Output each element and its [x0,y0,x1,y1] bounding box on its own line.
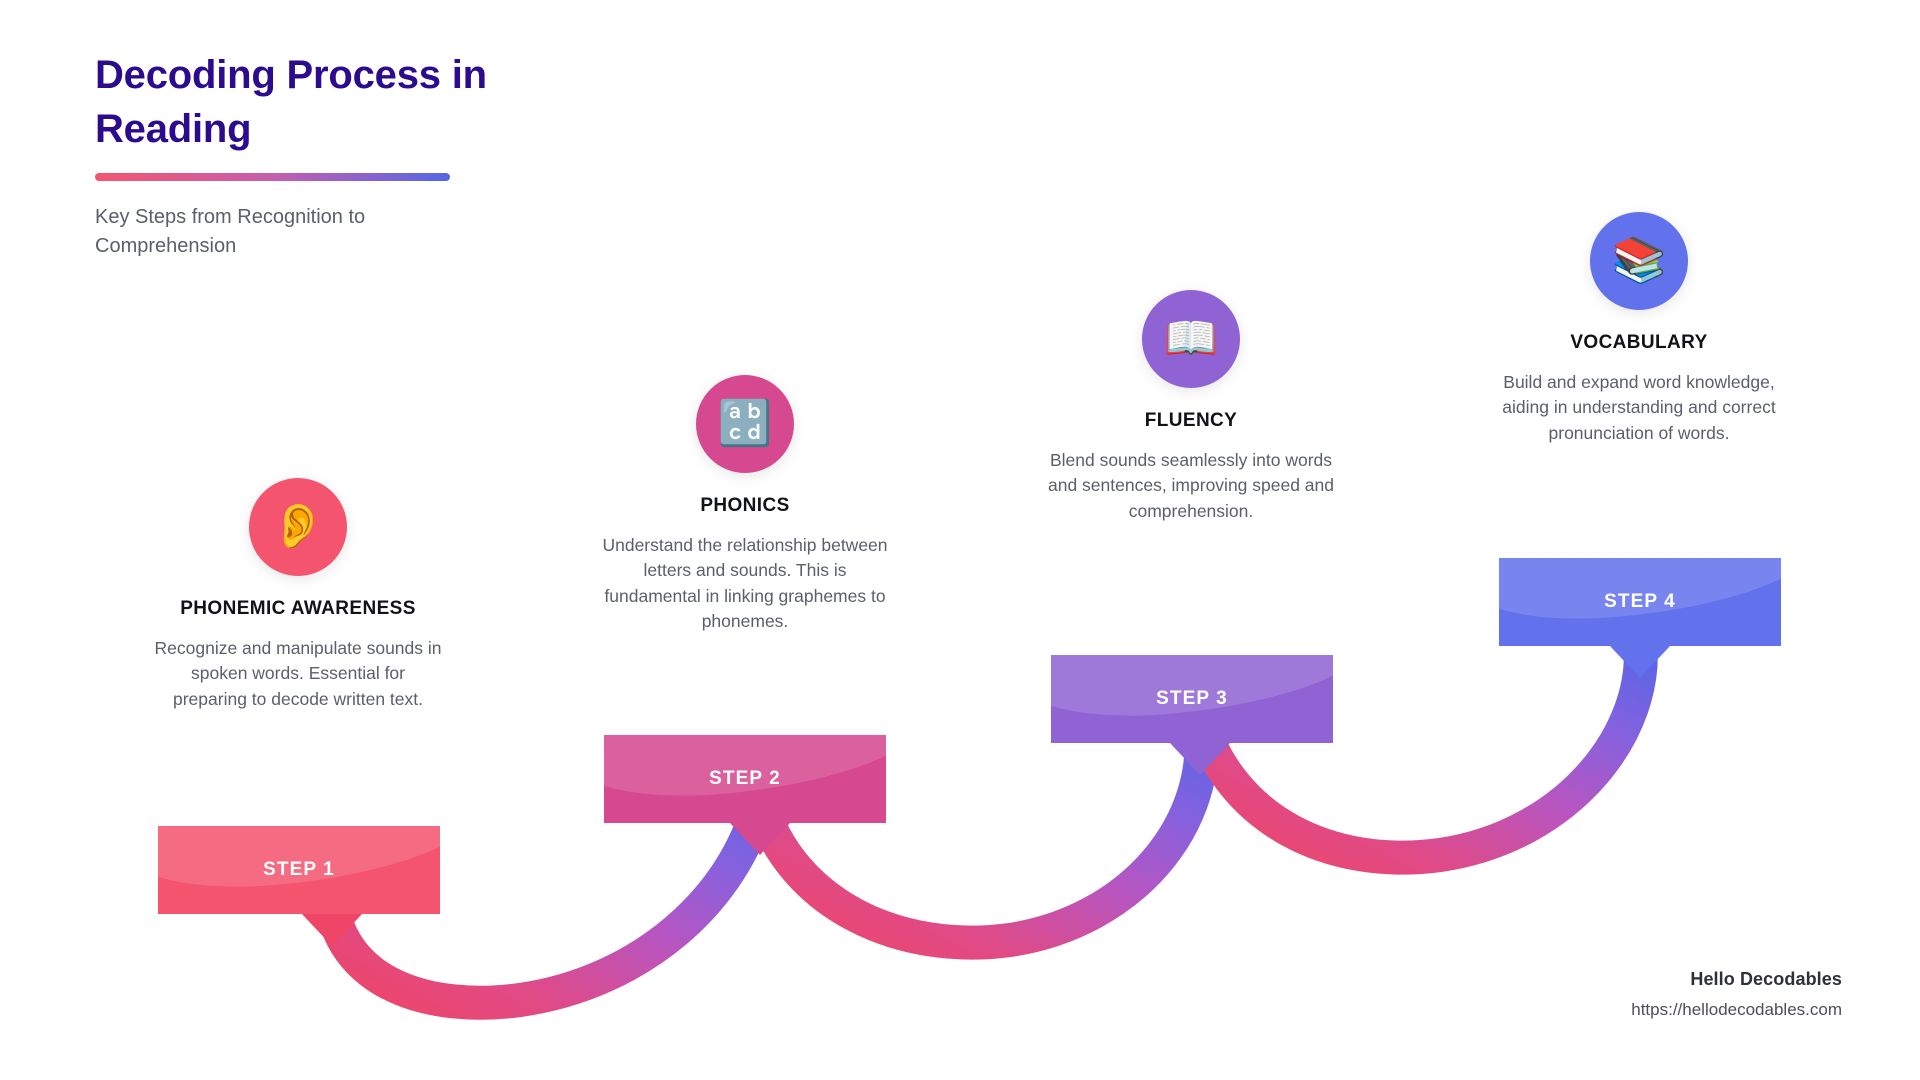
step-column-2: 🔡 PHONICS Understand the relationship be… [595,375,895,635]
step-column-1: 👂 PHONEMIC AWARENESS Recognize and manip… [148,478,448,712]
header: Decoding Process in Reading Key Steps fr… [95,48,565,262]
step-description-4: Build and expand word knowledge, aiding … [1489,370,1789,446]
step-description-2: Understand the relationship between lett… [595,533,895,635]
step-banner-tail-2 [730,823,790,855]
step-description-3: Blend sounds seamlessly into words and s… [1041,448,1341,524]
step-icon-glyph: 📖 [1164,317,1219,361]
step-banner-tail-1 [302,914,362,946]
step-banner-label-2: STEP 2 [709,768,781,790]
step-title-4: VOCABULARY [1489,332,1789,354]
title-accent-rule [95,173,450,181]
open-book-icon: 📖 [1142,290,1240,388]
ear-icon: 👂 [249,478,347,576]
footer-url[interactable]: https://hellodecodables.com [1631,1000,1842,1020]
abcd-input-symbols-icon: 🔡 [696,375,794,473]
step-title-1: PHONEMIC AWARENESS [148,598,448,620]
step-banner-4[interactable]: STEP 4 [1499,558,1781,646]
step-column-4: 📚 VOCABULARY Build and expand word knowl… [1489,212,1789,446]
page-title: Decoding Process in Reading [95,48,535,157]
step-banner-tail-4 [1610,646,1670,678]
step-icon-glyph: 👂 [271,505,326,549]
step-title-3: FLUENCY [1041,410,1341,432]
step-banner-tail-3 [1170,743,1230,775]
step-title-2: PHONICS [595,495,895,517]
step-description-1: Recognize and manipulate sounds in spoke… [148,636,448,712]
step-banner-3[interactable]: STEP 3 [1051,655,1333,743]
step-icon-glyph: 🔡 [718,402,773,446]
footer-brand: Hello Decodables [1631,969,1842,990]
step-banner-1[interactable]: STEP 1 [158,826,440,914]
page-subtitle: Key Steps from Recognition to Comprehens… [95,203,460,262]
step-banner-label-1: STEP 1 [263,859,335,881]
step-column-3: 📖 FLUENCY Blend sounds seamlessly into w… [1041,290,1341,524]
footer: Hello Decodables https://hellodecodables… [1631,969,1842,1020]
step-icon-glyph: 📚 [1612,239,1667,283]
books-stack-icon: 📚 [1590,212,1688,310]
infographic-canvas: Decoding Process in Reading Key Steps fr… [0,0,1920,1080]
step-banner-label-3: STEP 3 [1156,688,1228,710]
step-banner-label-4: STEP 4 [1604,591,1676,613]
step-banner-2[interactable]: STEP 2 [604,735,886,823]
